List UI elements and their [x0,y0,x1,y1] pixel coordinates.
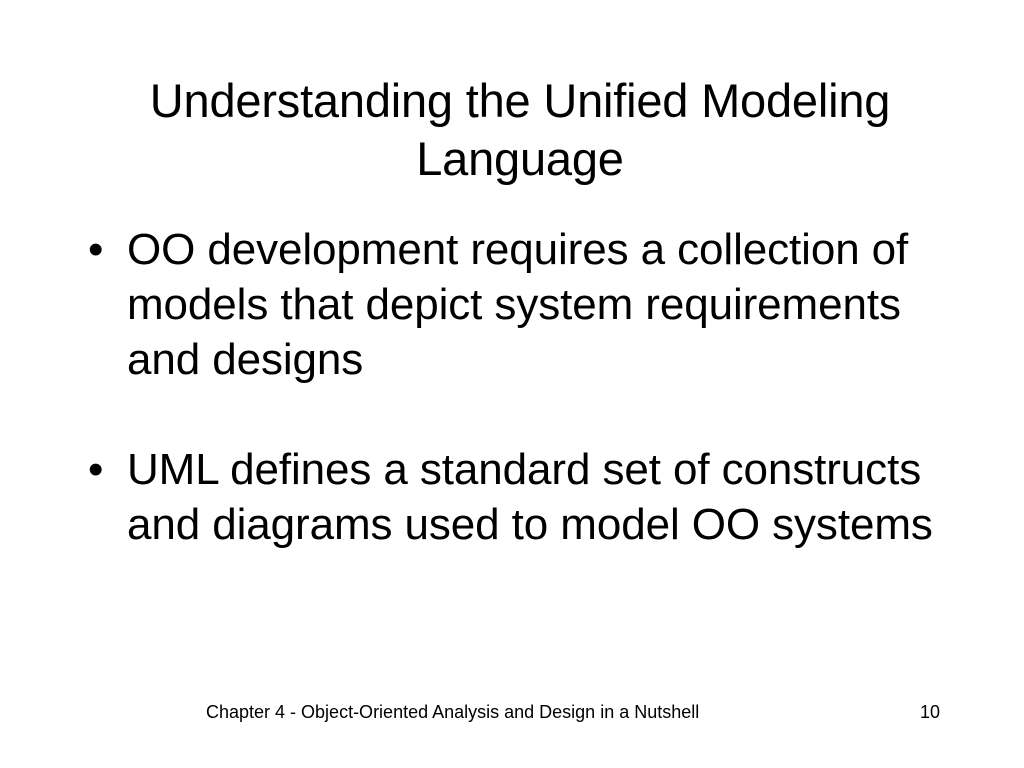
bullet-point-icon: • [88,442,103,497]
bullet-list-item: • UML defines a standard set of construc… [86,442,986,552]
bullet-spacer [86,387,986,442]
presentation-slide: Understanding the Unified Modeling Langu… [0,0,1024,768]
footer-page-number: 10 [910,700,950,724]
bullet-list-item: • OO development requires a collection o… [86,222,986,387]
bullet-point-icon: • [88,222,103,277]
footer-chapter-label: Chapter 4 - Object-Oriented Analysis and… [206,700,699,724]
bullet-item-text: UML defines a standard set of constructs… [127,445,933,549]
slide-title: Understanding the Unified Modeling Langu… [80,72,960,188]
bullet-item-text: OO development requires a collection of … [127,225,908,384]
slide-body: • OO development requires a collection o… [86,222,986,552]
slide-footer: Chapter 4 - Object-Oriented Analysis and… [0,700,1024,728]
